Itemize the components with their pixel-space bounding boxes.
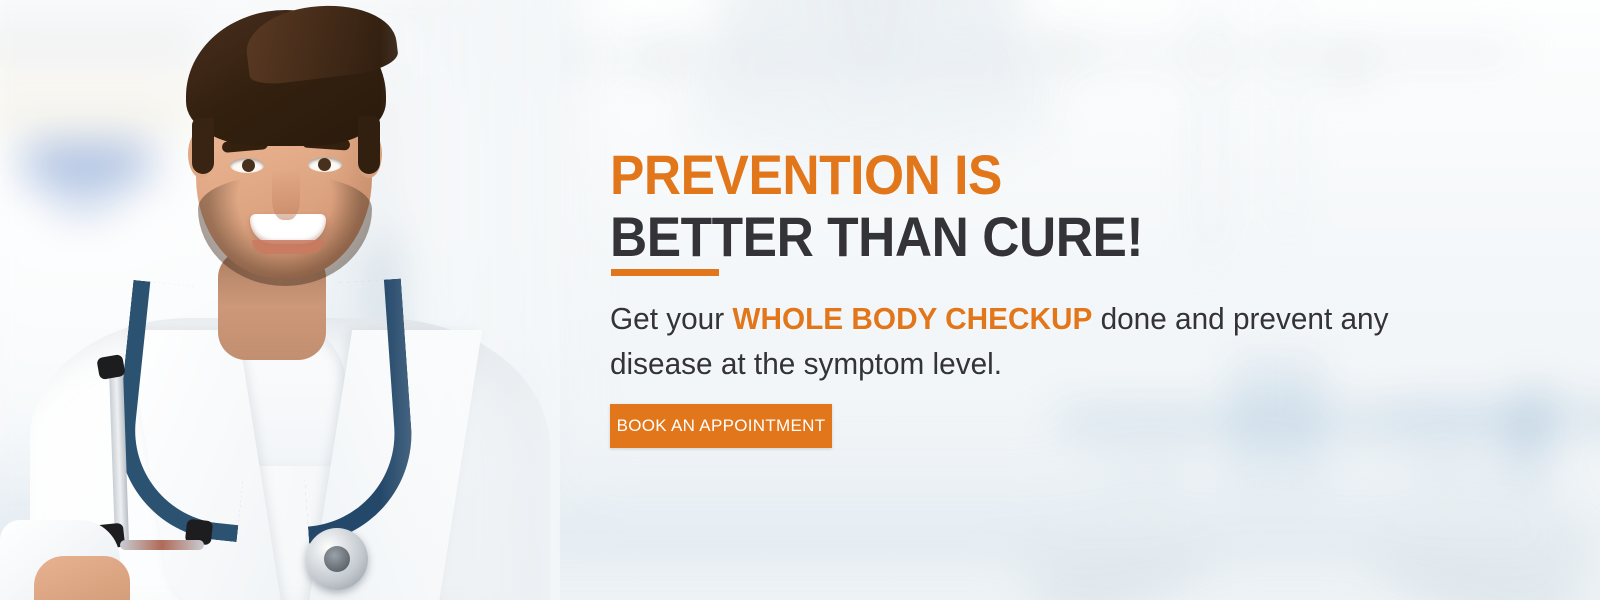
doctor-figure xyxy=(0,0,560,600)
hero-copy-block: PREVENTION IS BETTER THAN CURE! Get your… xyxy=(610,0,1530,600)
headline-line-1: PREVENTION IS xyxy=(610,144,1143,206)
doctor-pupil-right xyxy=(318,158,331,171)
stethoscope-cord xyxy=(120,540,204,550)
book-appointment-button[interactable]: BOOK AN APPOINTMENT xyxy=(610,404,832,448)
hero-banner: PREVENTION IS BETTER THAN CURE! Get your… xyxy=(0,0,1600,600)
subtitle-text-before: Get your xyxy=(610,301,732,336)
doctor-hand xyxy=(34,556,130,600)
doctor-nose xyxy=(272,170,300,220)
doctor-pupil-left xyxy=(242,159,255,172)
headline-line-2: BETTER THAN CURE! xyxy=(610,206,1143,268)
stethoscope-chestpiece xyxy=(306,528,368,590)
accent-divider xyxy=(611,269,719,276)
subtitle-highlight: WHOLE BODY CHECKUP xyxy=(732,301,1092,336)
page-title: PREVENTION IS BETTER THAN CURE! xyxy=(610,144,1189,268)
stethoscope-earpiece-top xyxy=(96,354,125,380)
doctor-photo xyxy=(0,0,560,600)
doctor-sideburn-left xyxy=(192,118,214,174)
doctor-lower-lip xyxy=(252,240,324,254)
hero-subtitle: Get your WHOLE BODY CHECKUP done and pre… xyxy=(610,296,1474,386)
doctor-sideburn-right xyxy=(358,116,380,174)
